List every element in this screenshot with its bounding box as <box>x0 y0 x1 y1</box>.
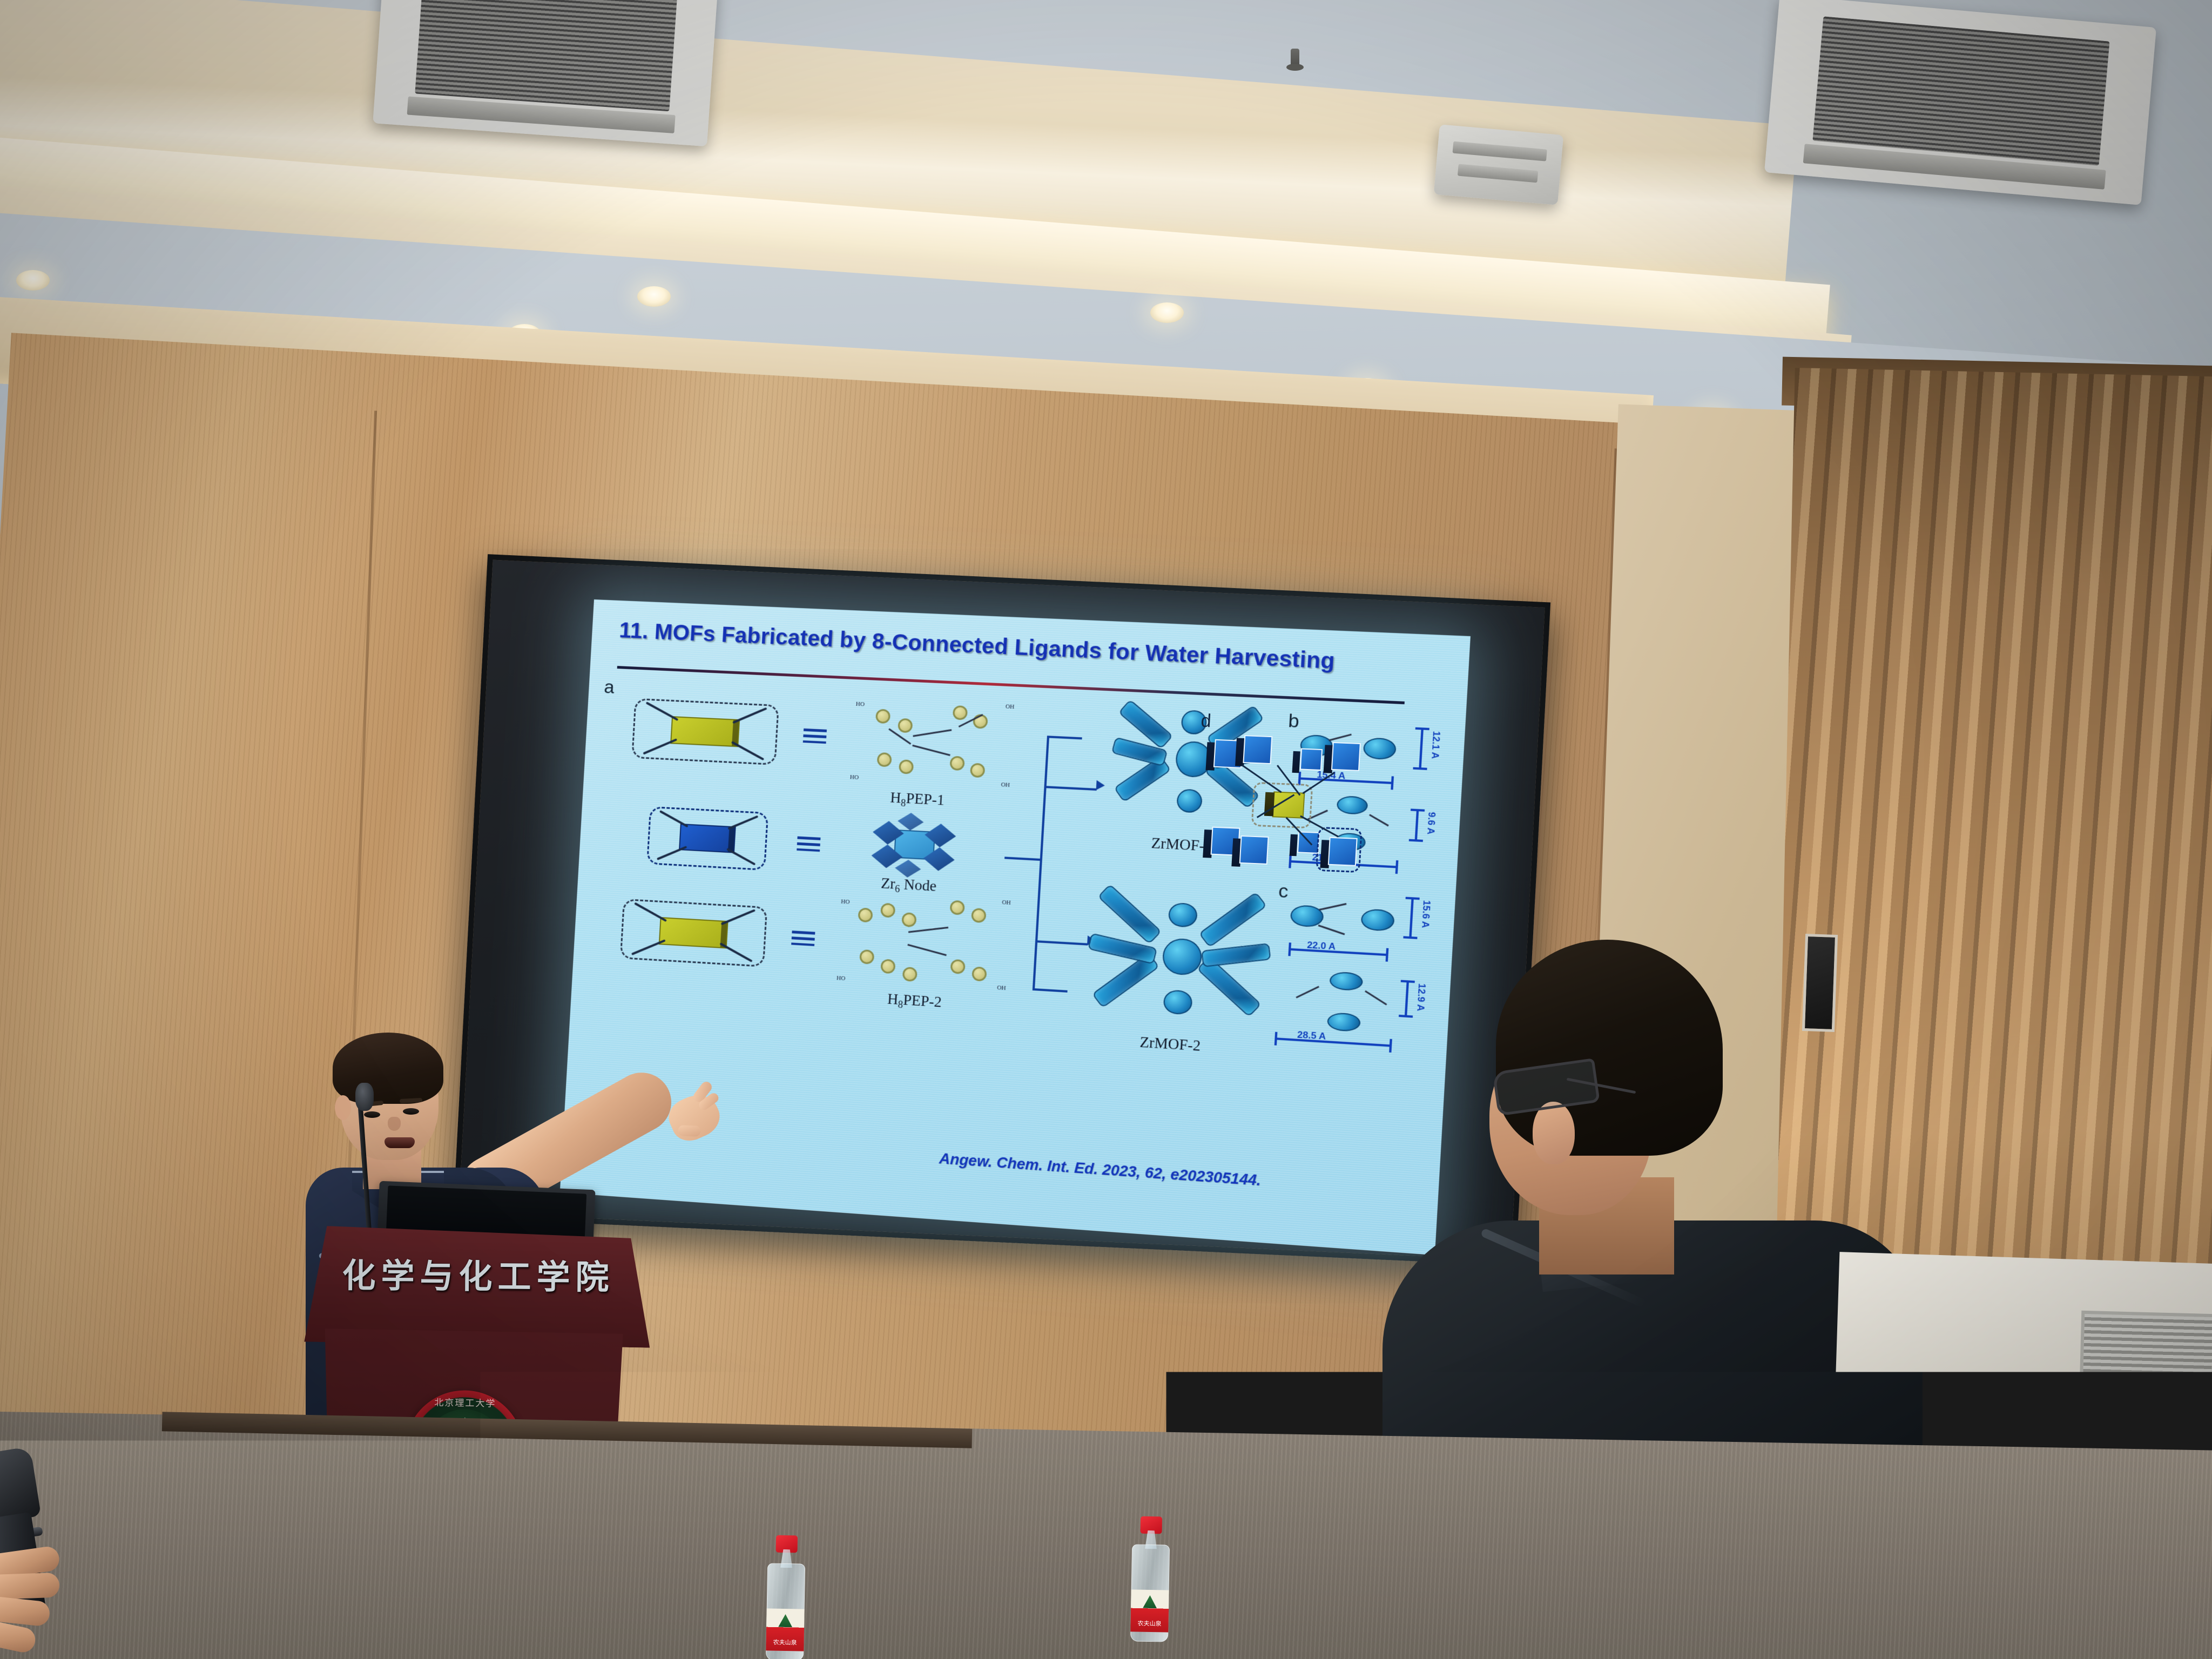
pore-linker <box>1296 986 1319 999</box>
cube-side <box>1290 834 1298 856</box>
pore-width-value-c1: 22.0 A <box>1307 940 1336 953</box>
h8pep1-molecule: HO OH HO OH <box>848 692 1027 796</box>
reaction-bracket-vertical <box>1032 736 1049 990</box>
ligand-label-h8pep1: H8PEP-1 <box>889 789 945 811</box>
bottle-brand-text: 农夫山泉 <box>1130 1618 1168 1628</box>
finger <box>0 1573 60 1600</box>
node-arm <box>656 846 687 860</box>
node-dashed-outline <box>1316 827 1363 873</box>
h8pep2-molecule: HO OH HO OH <box>836 884 1024 999</box>
presenter-ear <box>335 1095 351 1120</box>
node-arm <box>659 810 688 827</box>
podium-microphone-head <box>355 1083 374 1111</box>
pore-height-value-c1: 15.6 A <box>1419 900 1433 928</box>
carboxyl-label: HO <box>841 899 850 906</box>
mof-node-hub <box>1162 938 1203 976</box>
pore-node <box>1327 1012 1361 1032</box>
node-schematic-box <box>646 806 769 871</box>
aromatic-ring <box>970 763 985 778</box>
pore-height-value-b2: 9.6 A <box>1425 812 1438 835</box>
chair-right[interactable] <box>2148 1553 2212 1659</box>
bottle-brand-text: 农夫山泉 <box>2084 1521 2116 1529</box>
reaction-arrow-lower <box>1035 940 1088 946</box>
aromatic-ring <box>952 705 967 720</box>
cube-face <box>1243 735 1272 764</box>
presenter-eye <box>364 1111 380 1118</box>
water-bottle[interactable]: 农夫山泉 <box>2083 1434 2118 1542</box>
sprinkler-head <box>1291 49 1299 70</box>
presenter-nose <box>388 1117 401 1131</box>
aromatic-ring <box>972 967 987 982</box>
carboxyl-label: HO <box>849 774 859 781</box>
aromatic-ring <box>875 709 891 724</box>
downlight <box>1150 302 1184 323</box>
ligand-arm <box>631 939 666 955</box>
ac-grille <box>1812 16 2109 165</box>
cube-side <box>1292 751 1300 773</box>
carboxyl-label: OH <box>1005 703 1014 710</box>
mof-rod <box>1201 943 1271 968</box>
finger <box>0 1595 51 1627</box>
reaction-arrowhead-upper <box>1096 780 1105 791</box>
aromatic-ring <box>899 759 914 774</box>
downlight <box>637 286 671 307</box>
panel-letter-d: d <box>1201 711 1212 732</box>
carboxyl-label: OH <box>1001 781 1010 788</box>
framework-label-zrmof2: ZrMOF-2 <box>1139 1034 1201 1055</box>
mof-rod <box>1097 884 1162 944</box>
aromatic-ring <box>901 912 916 927</box>
ceiling-cassette-ac-right <box>1764 0 2156 205</box>
ligand-core-2 <box>659 917 728 948</box>
aromatic-ring <box>898 718 913 733</box>
diffuser-vane <box>1458 164 1538 183</box>
ligand-schematic-box-1 <box>631 698 779 765</box>
ceiling-air-diffuser <box>1434 124 1563 205</box>
equivalence-sign <box>797 837 820 852</box>
aromatic-ring <box>876 752 892 767</box>
aromatic-ring <box>902 967 917 982</box>
chemical-bond <box>907 944 947 956</box>
reaction-arrow-upper <box>1044 786 1097 791</box>
aromatic-ring <box>880 959 895 974</box>
ligand-arm <box>732 707 767 724</box>
topology-link <box>1303 772 1336 794</box>
ligand-arm <box>635 902 667 922</box>
aromatic-ring <box>950 900 965 915</box>
zr-polyhedron <box>897 812 924 831</box>
ligand-arm <box>643 738 678 754</box>
cube-face <box>1331 742 1361 771</box>
cube-face <box>1239 835 1269 865</box>
aromatic-ring <box>859 949 874 965</box>
chemical-bond <box>908 927 948 933</box>
cube-face <box>1300 748 1323 771</box>
equivalence-sign <box>791 930 815 946</box>
ligand-arm <box>721 909 756 925</box>
zr6-node-render <box>869 813 959 876</box>
equivalence-sign <box>802 729 826 744</box>
aromatic-ring <box>972 908 987 923</box>
node-arm <box>726 848 756 866</box>
presenter-thumb <box>678 1125 701 1136</box>
downlight <box>16 270 50 291</box>
ligand-arm <box>719 942 753 962</box>
reaction-bracket-mid <box>1004 857 1041 861</box>
pore-node <box>1330 971 1364 991</box>
reaction-bracket-top <box>1047 736 1082 739</box>
aromatic-ring <box>880 903 895 918</box>
node-arm <box>727 815 758 829</box>
pore-width-value-c2: 28.5 A <box>1297 1029 1326 1042</box>
carboxyl-label: OH <box>1002 899 1011 906</box>
panel-d-overlay: d <box>1187 698 1427 934</box>
carboxyl-label: HO <box>837 975 846 982</box>
ligand-label-h8pep2: H8PEP-2 <box>887 990 942 1013</box>
diffuser-vane <box>1452 141 1547 161</box>
water-bottle[interactable]: 农夫山泉 <box>766 1536 806 1659</box>
audience-ear <box>1533 1102 1575 1164</box>
lecture-hall-photo: 11. MOFs Fabricated by 8-Connected Ligan… <box>0 0 2212 1659</box>
ligand-core-1 <box>670 716 739 747</box>
water-bottle[interactable]: 农夫山泉 <box>1130 1517 1170 1642</box>
reaction-bracket-bottom <box>1032 988 1067 992</box>
podium-sign-text: 化学与化工学院 <box>305 1248 651 1299</box>
foreground-hand <box>0 1545 92 1659</box>
mof-node-hub <box>1163 989 1192 1015</box>
ligand-arm <box>646 702 679 721</box>
aromatic-ring <box>949 756 965 771</box>
aromatic-ring <box>858 908 873 923</box>
chemical-bond <box>913 729 952 737</box>
panel-letter-a: a <box>604 677 615 698</box>
pore-height-value-b1: 12.1 A <box>1429 731 1442 759</box>
presenter-mouth <box>385 1137 415 1148</box>
bottle-brand-text: 农夫山泉 <box>766 1637 804 1647</box>
presenter-hair <box>333 1033 443 1104</box>
ligand-schematic-box-2 <box>620 899 768 967</box>
ligand-arm <box>731 741 765 760</box>
ac-grille <box>415 0 677 111</box>
presenter-eye <box>403 1108 419 1115</box>
emblem-chinese-text: 北京理工大学 <box>406 1394 524 1410</box>
carboxyl-label: HO <box>855 701 865 708</box>
chemical-bond <box>912 745 950 756</box>
carboxyl-label: OH <box>997 984 1006 992</box>
audience-hair <box>1496 940 1723 1156</box>
wall-power-outlet[interactable] <box>2063 1399 2096 1434</box>
ceiling-cassette-ac-left <box>373 0 718 146</box>
aromatic-ring <box>950 959 965 974</box>
